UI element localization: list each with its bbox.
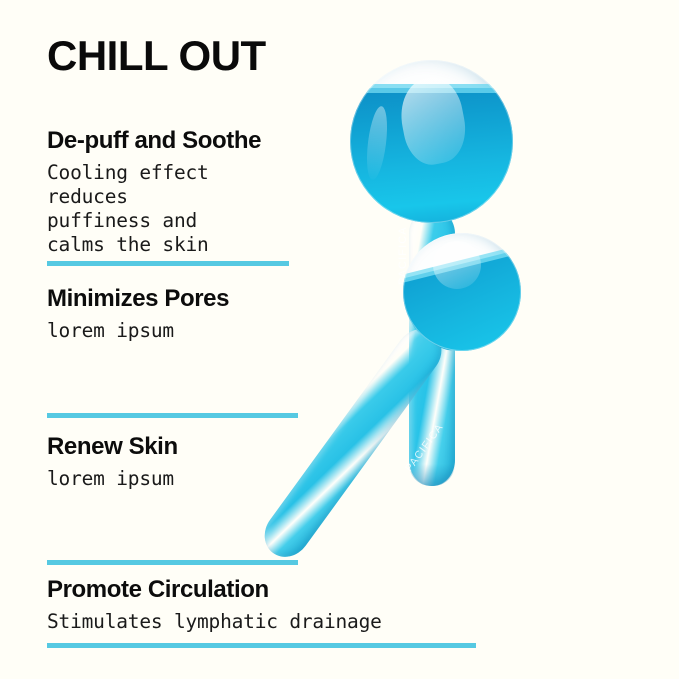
- product-infographic: PACIFICA PACIFICA CHILL OUT De-puff and …: [0, 0, 679, 679]
- benefit-block-1: De-puff and Soothe Cooling effect reduce…: [47, 128, 261, 257]
- benefit-heading: Promote Circulation: [47, 577, 382, 604]
- benefit-block-3: Renew Skin lorem ipsum: [47, 434, 178, 491]
- benefit-heading: De-puff and Soothe: [47, 128, 261, 155]
- benefit-heading: Minimizes Pores: [47, 286, 229, 313]
- benefit-body: Cooling effect reduces puffiness and cal…: [47, 161, 261, 257]
- benefit-body: lorem ipsum: [47, 319, 229, 343]
- section-divider: [47, 643, 476, 648]
- section-divider: [47, 413, 298, 418]
- benefit-block-4: Promote Circulation Stimulates lymphatic…: [47, 577, 382, 634]
- benefit-block-2: Minimizes Pores lorem ipsum: [47, 286, 229, 343]
- benefit-heading: Renew Skin: [47, 434, 178, 461]
- section-divider: [47, 261, 289, 266]
- benefit-body: lorem ipsum: [47, 467, 178, 491]
- page-title: CHILL OUT: [47, 35, 266, 77]
- benefit-body: Stimulates lymphatic drainage: [47, 610, 382, 634]
- text-column: CHILL OUT De-puff and Soothe Cooling eff…: [47, 0, 517, 679]
- section-divider: [47, 560, 298, 565]
